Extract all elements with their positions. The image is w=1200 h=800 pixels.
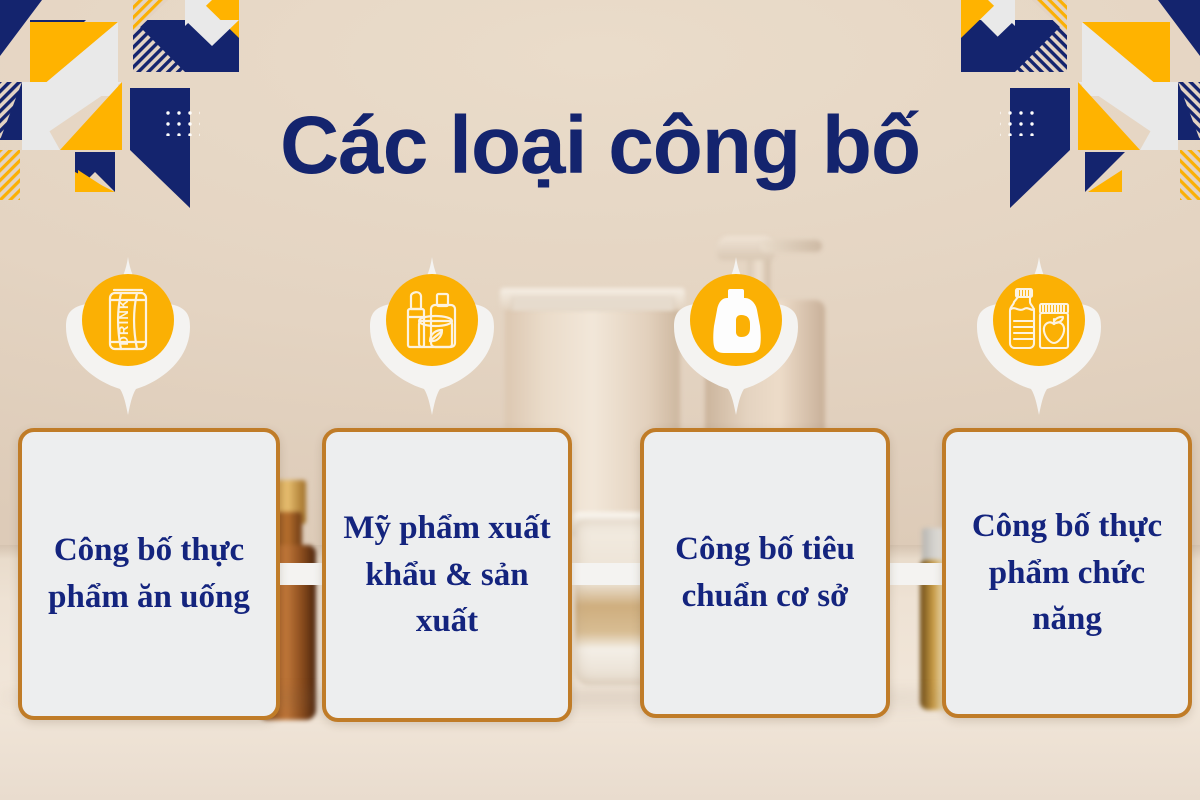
cosmetics-icon — [389, 277, 475, 363]
bottle-and-jar-icon — [996, 277, 1082, 363]
page-title: Các loại công bố — [0, 103, 1200, 189]
step-card-1-text: Công bố thực phẩm ăn uống — [34, 527, 264, 621]
prop-pump-bottle-spout — [760, 240, 822, 252]
steps-pin-row: DRINK — [0, 255, 1200, 415]
infographic-stage: Các loại công bố — [0, 0, 1200, 800]
step-card-1[interactable]: Công bố thực phẩm ăn uống — [18, 428, 280, 720]
step-card-2-text: Mỹ phẩm xuất khẩu & sản xuất — [338, 505, 556, 646]
step-card-2[interactable]: Mỹ phẩm xuất khẩu & sản xuất — [322, 428, 572, 722]
step-card-4-text: Công bố thực phẩm chức năng — [958, 503, 1176, 644]
step-card-3-text: Công bố tiêu chuẩn cơ sở — [656, 526, 874, 620]
step-pin-2[interactable] — [370, 255, 494, 415]
detergent-bottle-icon — [693, 277, 779, 363]
step-card-4[interactable]: Công bố thực phẩm chức năng — [942, 428, 1192, 718]
drink-can-label: DRINK — [116, 298, 131, 345]
drink-can-icon: DRINK — [85, 277, 171, 363]
step-pin-1[interactable]: DRINK — [66, 255, 190, 415]
step-pin-3[interactable] — [674, 255, 798, 415]
step-pin-4[interactable] — [977, 255, 1101, 415]
step-card-3[interactable]: Công bố tiêu chuẩn cơ sở — [640, 428, 890, 718]
